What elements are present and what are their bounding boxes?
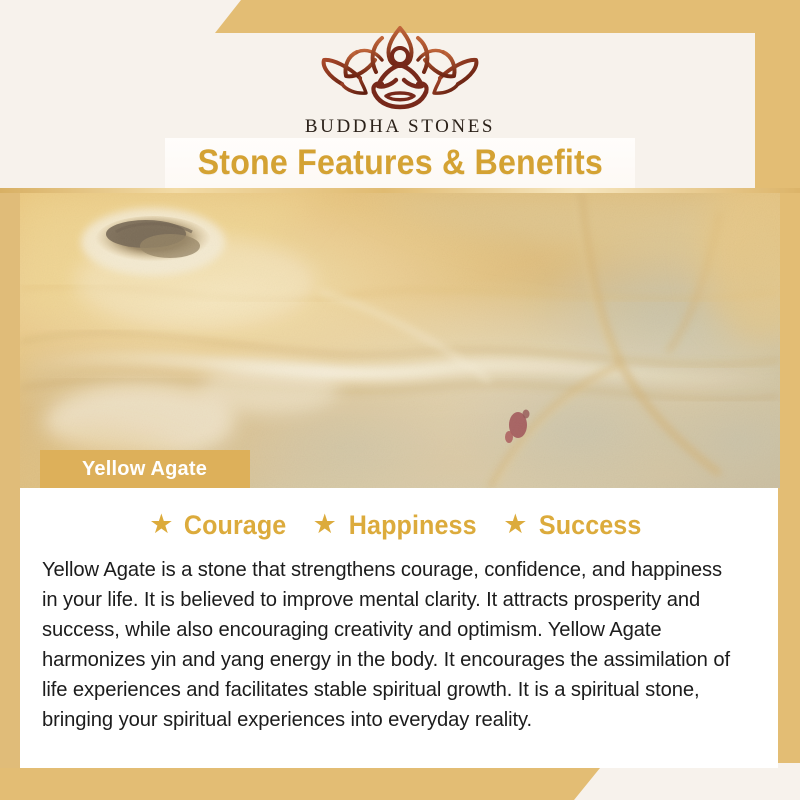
keyword-item-success: ★ Success: [503, 510, 645, 541]
star-icon: ★: [149, 511, 173, 538]
stone-name-label: Yellow Agate: [40, 458, 207, 481]
title-underline-rule: [0, 188, 800, 193]
keyword-label: Happiness: [349, 510, 477, 541]
lotus-meditation-figure-icon: [312, 22, 488, 114]
page-title: Stone Features & Benefits: [197, 143, 602, 183]
gold-frame-bottom: [0, 768, 600, 800]
keyword-list: ★ Courage ★ Happiness ★ Success: [42, 510, 752, 541]
infographic-page: BUDDHA STONES Stone Features & Benefits: [0, 0, 800, 800]
stone-texture-graphic: [20, 192, 780, 488]
brand-name: BUDDHA STONES: [305, 116, 495, 138]
keyword-label: Success: [538, 510, 641, 541]
stone-photo: Yellow Agate: [20, 192, 780, 488]
stone-name-banner: Yellow Agate: [40, 450, 250, 488]
star-icon: ★: [313, 511, 337, 538]
brand-logo: BUDDHA STONES: [0, 22, 800, 138]
keyword-item-courage: ★ Courage: [149, 510, 290, 541]
star-icon: ★: [503, 511, 527, 538]
title-panel: Stone Features & Benefits: [165, 138, 635, 188]
keyword-item-happiness: ★ Happiness: [313, 510, 482, 541]
description-paragraph: Yellow Agate is a stone that strengthens…: [42, 555, 741, 735]
gold-frame-left: [0, 190, 22, 800]
keyword-label: Courage: [184, 510, 287, 541]
content-card: ★ Courage ★ Happiness ★ Success Yellow A…: [20, 488, 778, 768]
